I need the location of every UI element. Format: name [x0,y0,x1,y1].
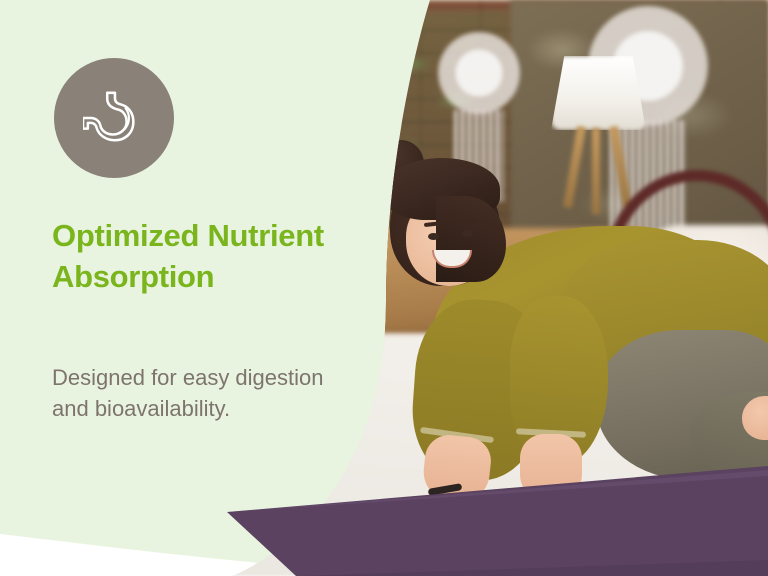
subtitle: Designed for easy digestion and bioavail… [52,362,342,424]
arm-back [520,434,582,504]
promo-card: Optimized Nutrient Absorption Designed f… [0,0,768,576]
content-column: Optimized Nutrient Absorption Designed f… [0,0,390,576]
eye-right [462,230,473,237]
stomach-badge [54,58,174,178]
lamp-leg-center [592,128,600,214]
stomach-icon [83,87,145,149]
page-title: Optimized Nutrient Absorption [52,216,352,297]
lamp-shade [551,56,646,130]
eye-left [428,233,439,240]
